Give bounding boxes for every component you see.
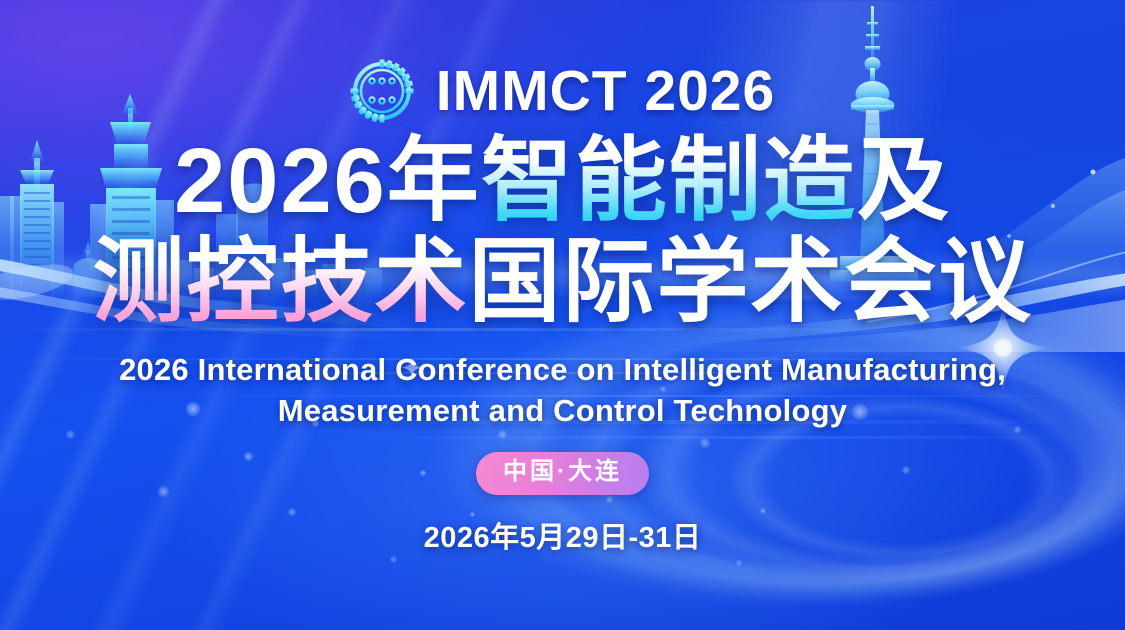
logo-title: IMMCT 2026 [436, 63, 775, 120]
chinese-title-line-2: 测控技术国际学术会议 [92, 233, 1032, 332]
title-segment-international-conference: 国际学术会议 [469, 233, 1033, 332]
conference-banner: IMMCT 2026 2026年智能制造及 测控技术国际学术会议 2026 In… [0, 0, 1125, 630]
chinese-title-line-1: 2026年智能制造及 [174, 132, 951, 231]
title-segment-measurement-control: 测控技术 [92, 233, 468, 332]
english-subtitle-line-2: Measurement and Control Technology [119, 390, 1006, 431]
gear-circuit-icon [350, 59, 414, 123]
title-segment-and: 及 [857, 132, 951, 231]
conference-date: 2026年5月29日-31日 [424, 514, 702, 556]
title-segment-year: 2026年 [174, 132, 481, 231]
english-subtitle: 2026 International Conference on Intelli… [119, 349, 1006, 431]
logo-row: IMMCT 2026 [350, 56, 775, 126]
english-subtitle-line-1: 2026 International Conference on Intelli… [119, 349, 1006, 390]
banner-content: IMMCT 2026 2026年智能制造及 测控技术国际学术会议 2026 In… [0, 0, 1125, 630]
location-badge: 中国·大连 [476, 452, 649, 494]
title-segment-intelligent-manufacturing: 智能制造 [481, 132, 857, 231]
